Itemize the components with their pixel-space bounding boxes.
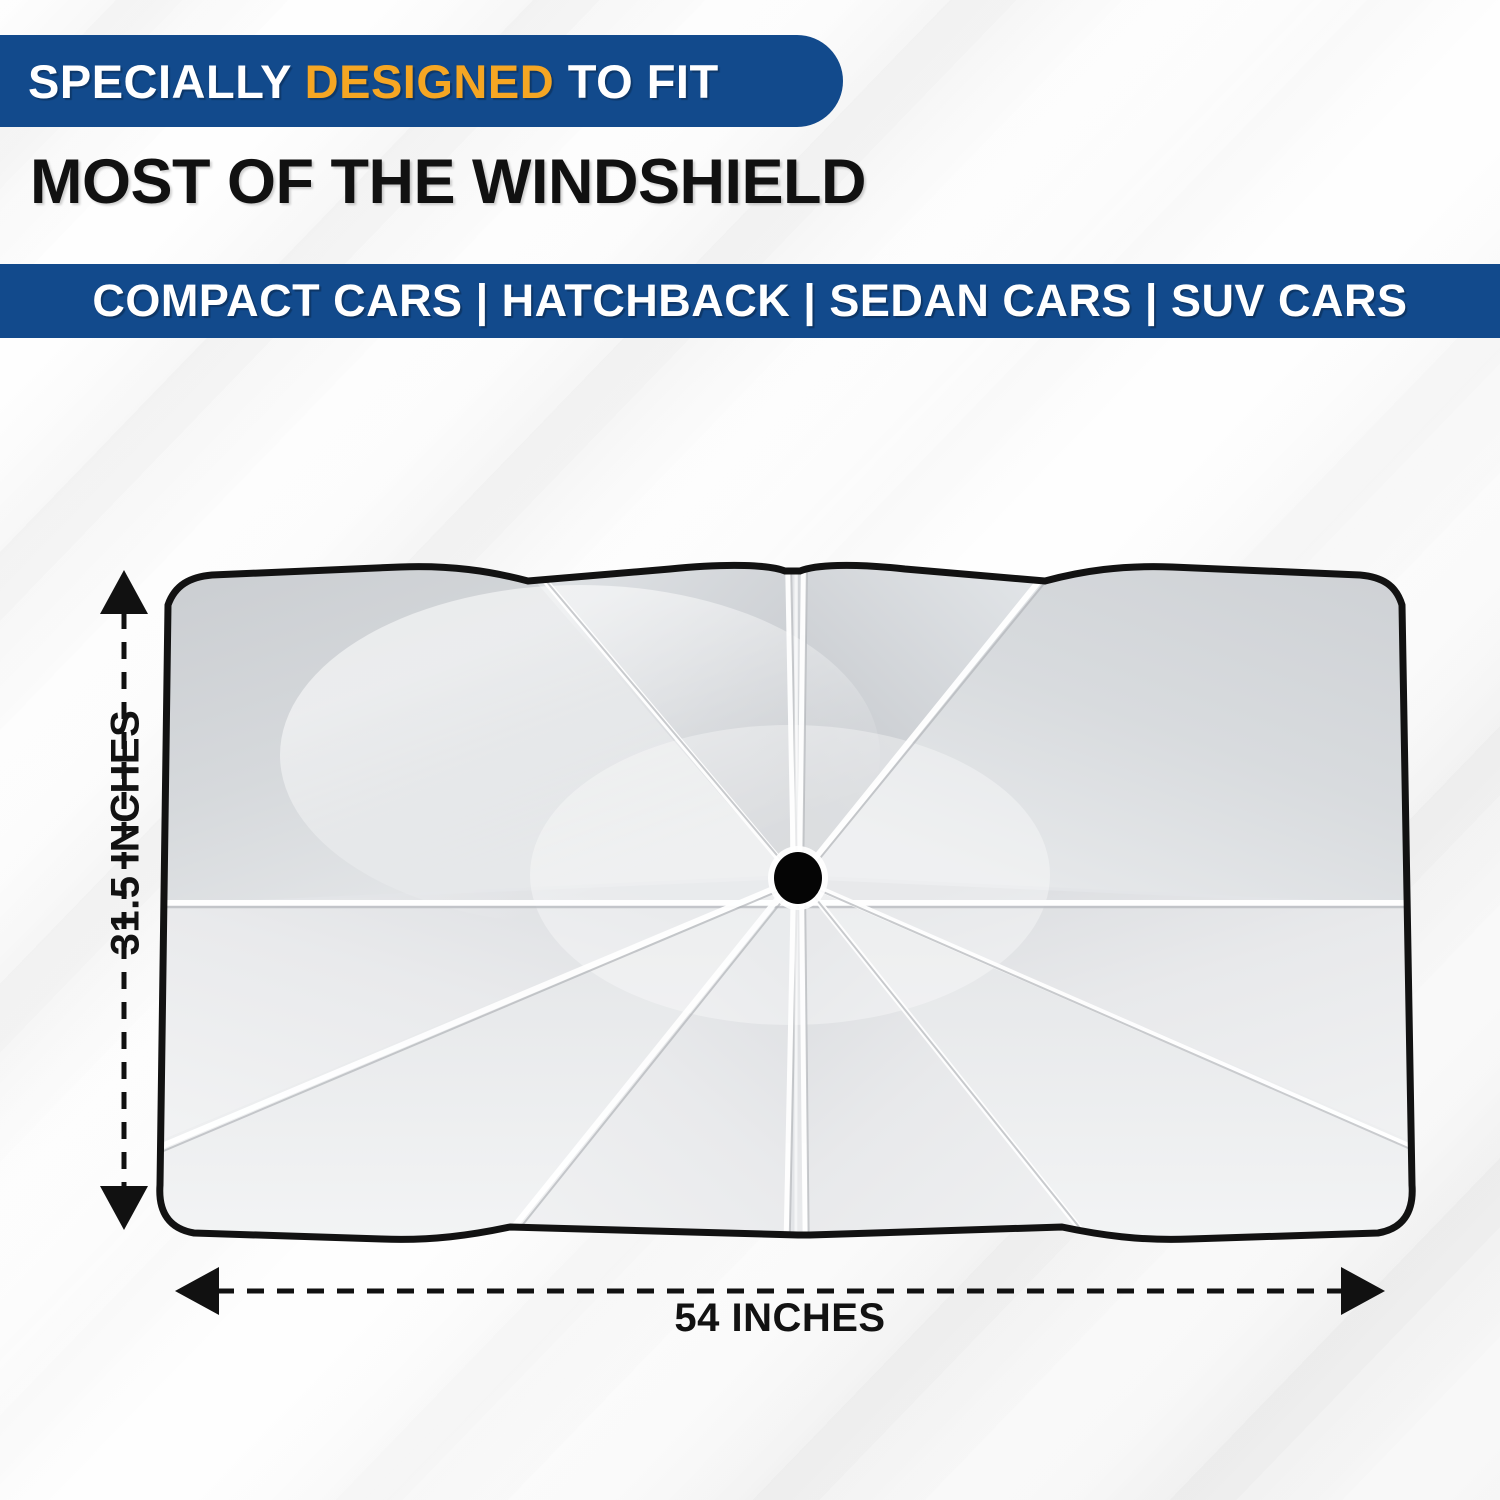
height-dimension: 31.5 INCHES [92,570,156,1230]
banner-text: SPECIALLY DESIGNED TO FIT [28,54,719,109]
height-label: 31.5 INCHES [104,673,149,993]
page-title: MOST OF THE WINDSHIELD [30,146,866,218]
banner-text-prefix: SPECIALLY [28,55,305,108]
sun-shade-illustration [150,545,1420,1265]
width-label: 54 INCHES [175,1296,1385,1341]
specially-designed-banner: SPECIALLY DESIGNED TO FIT [0,35,843,127]
center-hub [774,852,822,904]
vehicle-fit-bar: COMPACT CARS | HATCHBACK | SEDAN CARS | … [0,264,1500,338]
banner-text-suffix: TO FIT [554,55,719,108]
vehicle-fit-bar-text: COMPACT CARS | HATCHBACK | SEDAN CARS | … [92,275,1407,327]
arrow-head-down-icon [100,1186,148,1230]
arrow-head-up-icon [100,570,148,614]
banner-text-accent: DESIGNED [305,55,555,108]
infographic-page: SPECIALLY DESIGNED TO FIT MOST OF THE WI… [0,0,1500,1500]
